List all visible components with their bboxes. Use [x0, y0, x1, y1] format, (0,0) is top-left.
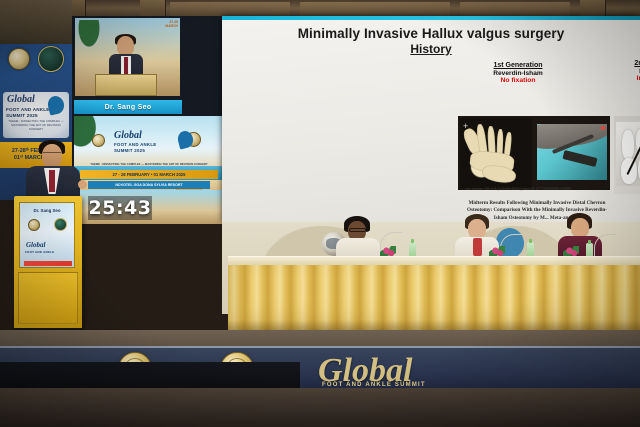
glasses-icon	[349, 228, 366, 232]
event-script-logo: Global	[26, 241, 45, 249]
generation-1-heading: 1st Generation	[462, 62, 574, 70]
seal-icon	[38, 46, 64, 72]
event-name-line1: FOOT AND ANKLE	[114, 142, 156, 148]
generation-1-sub: Reverdin-Isham	[462, 70, 574, 77]
xray-kwire-left	[616, 122, 640, 186]
generation-1-block: 1st Generation Reverdin-Isham No fixatio…	[462, 62, 574, 85]
event-name-line2: SUMMIT 2025	[114, 148, 145, 154]
swoosh-icon	[176, 129, 195, 149]
feed-podium	[95, 74, 157, 96]
projection-screen: Minimally Invasive Hallux valgus surgery…	[222, 16, 640, 222]
generation-2-highlight: Intramedullary	[604, 75, 640, 83]
countdown-timer: 25:43	[88, 196, 152, 220]
intraoperative-photo	[537, 124, 607, 180]
generation-2-highlight2: fixation	[604, 83, 640, 90]
generation-2-images	[614, 116, 640, 194]
event-name-line2: SUMMIT 2025	[6, 113, 38, 119]
slide-title: Minimally Invasive Hallux valgus surgery	[222, 26, 640, 41]
event-theme: THEME : DISSECTING THE COMPLEX — MASTERI…	[80, 162, 218, 166]
wall-banner-top	[0, 0, 72, 44]
slide-citation-small: for whom: 00- 0.4 (1-0.06-2025-) doi:10.…	[466, 186, 594, 191]
feed-banner-text: 27-28MARCH	[144, 20, 178, 29]
generation-2-sub: Bosch (SERI)	[604, 68, 640, 75]
palm-decor	[75, 20, 101, 60]
event-script-logo: Global	[7, 94, 35, 105]
scarf-decor	[473, 238, 482, 256]
seal-icon	[54, 218, 67, 231]
generation-1-images: +	[458, 116, 610, 190]
event-dates: 27 - 28 FEBRUARY • 01 MARCH 2025	[80, 170, 218, 179]
slide-subtitle: History	[222, 42, 640, 56]
podium: Dr. Sang Seo Global FOOT AND ANKLE	[14, 196, 82, 328]
event-banner-logo: Global FOOT AND ANKLE SUMMIT 2025	[82, 132, 216, 160]
event-name-line1: FOOT AND ANKLE	[6, 107, 50, 113]
wall-banner-logo: Global FOOT AND ANKLE SUMMIT 2025 THEME …	[3, 92, 69, 138]
foot-bone-model-image: +	[460, 118, 532, 188]
side-display-board: 27-28MARCH Dr. Sang Seo Global FOOT AND …	[72, 16, 224, 206]
speaker-video-feed: 27-28MARCH	[75, 18, 180, 96]
speaker-nameplate: Dr. Sang Seo	[74, 100, 182, 114]
event-script-logo: Global	[114, 130, 142, 141]
seal-icon	[8, 48, 30, 70]
presentation-slide: Minimally Invasive Hallux valgus surgery…	[222, 20, 640, 222]
glasses-icon	[43, 152, 61, 156]
seal-icon	[28, 219, 40, 231]
generation-2-block: 2nd Generation Bosch (SERI) Intramedulla…	[604, 60, 640, 90]
event-venue: NOVOTEL GOA DONA SYLVIA RESORT	[88, 181, 210, 189]
event-theme: THEME : DISSECTING THE COMPLEX — MASTERI…	[5, 120, 67, 132]
podium-display: Dr. Sang Seo Global FOOT AND ANKLE	[19, 202, 75, 268]
podium-front-panel	[18, 272, 78, 324]
foreground-floor	[0, 388, 640, 427]
event-name-line1: FOOT AND ANKLE	[25, 251, 54, 255]
conference-photo: Global FOOT AND ANKLE SUMMIT 2025 THEME …	[0, 0, 640, 427]
generation-1-highlight: No fixation	[462, 77, 574, 85]
podium-accent-bar	[24, 261, 72, 266]
podium-speaker-name: Dr. Sang Seo	[20, 208, 74, 213]
generation-2-heading: 2nd Generation	[604, 60, 640, 68]
